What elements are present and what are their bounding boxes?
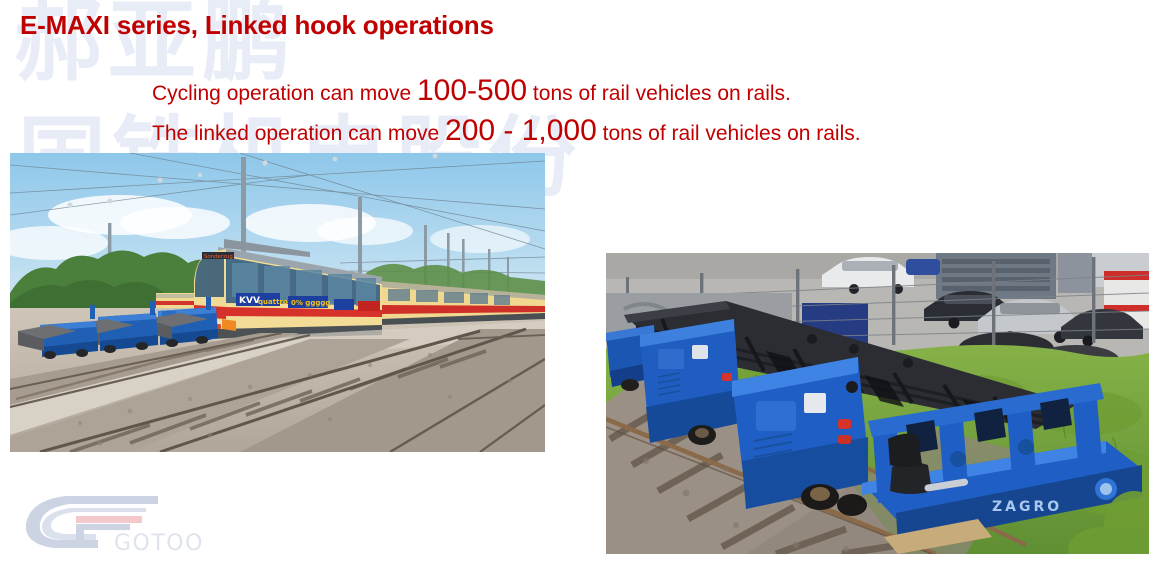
photo-rail-movers: ZAGRO xyxy=(606,253,1149,554)
photo-tram-depot: KVV quattro 0% ggggg. Sonderzug xyxy=(10,153,545,452)
svg-text:KVV: KVV xyxy=(239,296,260,306)
svg-text:Sonderzug: Sonderzug xyxy=(204,254,233,260)
slide-title: E-MAXI series, Linked hook operations xyxy=(20,10,494,41)
slide-canvas: 郝亚鹏 国铁机电股份 E-MAXI series, Linked hook op… xyxy=(0,0,1149,568)
body-line-1: Cycling operation can move 100-500 tons … xyxy=(152,74,791,108)
body-line-2-part1: The linked operation can move xyxy=(152,122,445,145)
svg-text:0% ggggg.: 0% ggggg. xyxy=(291,299,333,307)
logo-wordmark: GOTOO xyxy=(114,531,204,556)
body-line-1-part1: Cycling operation can move xyxy=(152,82,417,105)
mover-brand-text: ZAGRO xyxy=(992,499,1062,515)
body-line-2-part2: tons of rail vehicles on rails. xyxy=(597,122,861,145)
body-line-2-emphasis: 200 - 1,000 xyxy=(445,114,597,147)
gotoo-logo-mark: GOTOO xyxy=(18,490,208,558)
logo-stripe xyxy=(76,516,142,523)
photo-rail-movers-illustration: ZAGRO xyxy=(606,253,1149,554)
svg-text:quattro: quattro xyxy=(258,298,288,306)
gotoo-logo: GOTOO xyxy=(18,490,208,558)
rail-mover-mid xyxy=(640,319,740,445)
body-line-1-emphasis: 100-500 xyxy=(417,74,527,107)
body-line-2: The linked operation can move 200 - 1,00… xyxy=(152,114,861,148)
photo-tram-depot-illustration: KVV quattro 0% ggggg. Sonderzug xyxy=(10,153,545,452)
body-line-1-part2: tons of rail vehicles on rails. xyxy=(527,82,791,105)
